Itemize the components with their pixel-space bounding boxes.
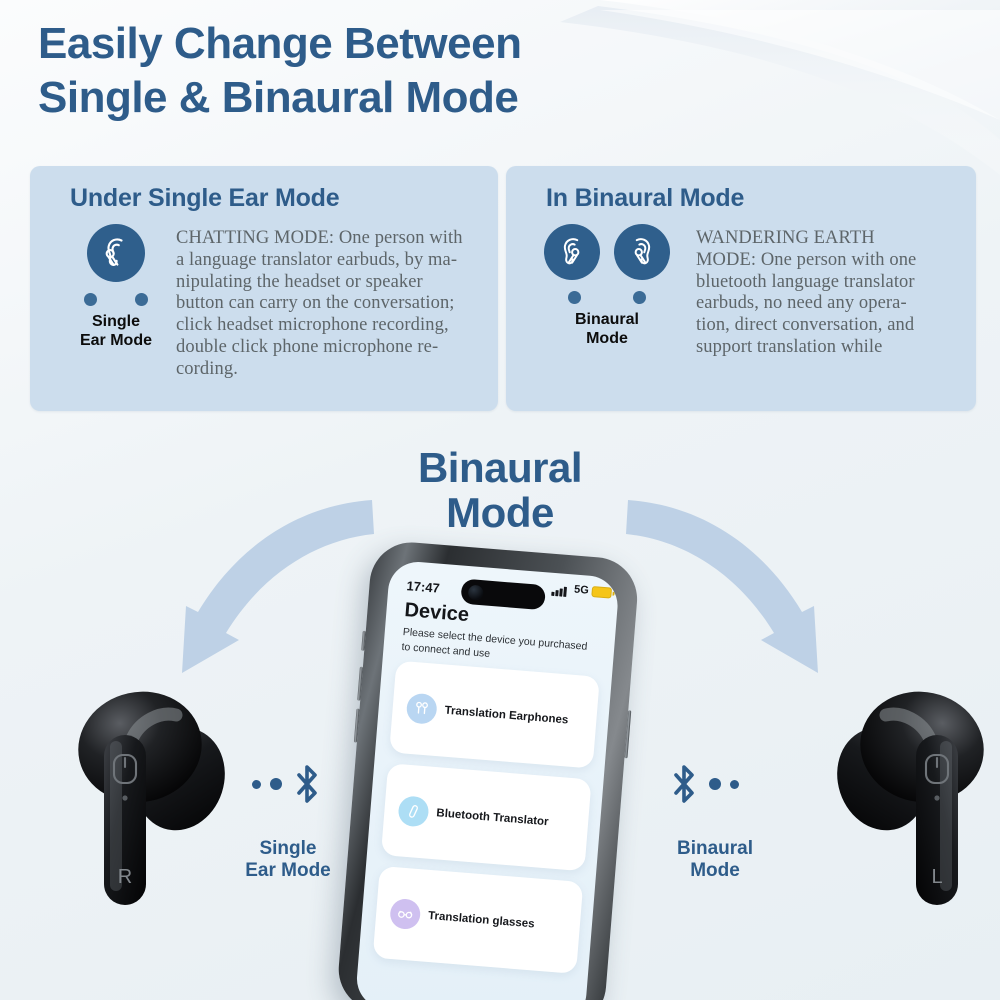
page-title-line-1: Easily Change Between <box>38 17 678 71</box>
earbud-right-image: L <box>770 655 1000 925</box>
power-button[interactable] <box>624 710 631 758</box>
body-line: cording. <box>176 359 494 381</box>
earbud-label-binaural-mode: Binaural Mode <box>625 838 805 882</box>
card-mode-label: Binaural Mode <box>575 311 639 349</box>
link-dot <box>730 780 739 789</box>
status-dot <box>633 291 646 304</box>
battery-icon <box>591 586 612 599</box>
card-mode-label: Single Ear Mode <box>80 313 152 351</box>
body-line: a language translator earbuds, by ma- <box>176 250 494 272</box>
ear-with-earbud-icon-right <box>614 224 670 280</box>
earbud-channel-mark-l: L <box>931 866 942 888</box>
card-body-text: WANDERING EARTH MODE: One person with on… <box>696 228 968 359</box>
volume-down-button[interactable] <box>354 708 360 742</box>
bluetooth-icon <box>668 762 700 806</box>
card-heading: Under Single Ear Mode <box>30 184 498 213</box>
body-line: support translation while <box>696 337 968 359</box>
earbud-channel-mark-r: R <box>118 866 132 888</box>
dynamic-island <box>460 579 546 611</box>
mode-label-line-2: Mode <box>575 330 639 349</box>
mute-switch[interactable] <box>361 631 366 651</box>
list-item-translation-glasses[interactable]: Translation glasses <box>373 866 584 974</box>
card-icon-column: Single Ear Mode <box>52 224 180 351</box>
ear-with-earbud-icon-left <box>544 224 600 280</box>
body-line: double click phone microphone re- <box>176 337 494 359</box>
body-line: click headset microphone recording, <box>176 315 494 337</box>
card-body-text: CHATTING MODE: One person with a languag… <box>176 228 494 381</box>
body-line: bluetooth language translator <box>696 272 968 294</box>
status-dots <box>84 293 148 306</box>
card-single-ear-mode: Under Single Ear Mode Single <box>30 166 498 411</box>
mode-label-line-1: Single <box>80 313 152 332</box>
volume-up-button[interactable] <box>357 667 363 701</box>
status-dot <box>84 293 97 306</box>
list-item-bluetooth-translator[interactable]: Bluetooth Translator <box>381 763 592 871</box>
ear-with-earbud-icon <box>87 224 145 282</box>
body-line: WANDERING EARTH <box>696 228 968 250</box>
stick-translator-icon <box>397 795 429 827</box>
bluetooth-icon <box>291 762 323 806</box>
phone-mockup: 5G 17:47 Device Please select the device… <box>328 529 655 1000</box>
bluetooth-link-right <box>668 762 739 806</box>
earbud-label-line-1: Binaural <box>625 838 805 860</box>
list-item-label: Bluetooth Translator <box>436 807 549 828</box>
screen-title: Device <box>404 599 470 627</box>
status-bar-time: 17:47 <box>406 578 440 596</box>
body-line: button can carry on the conversation; <box>176 293 494 315</box>
body-line: CHATTING MODE: One person with <box>176 228 494 250</box>
body-line: tion, direct conversation, and <box>696 315 968 337</box>
link-dot <box>270 778 282 790</box>
earbuds-icon <box>406 693 438 725</box>
card-binaural-mode: In Binaural Mode <box>506 166 976 411</box>
infographic-root: Easily Change Between Single & Binaural … <box>0 0 1000 1000</box>
list-item-label: Translation Earphones <box>444 705 569 727</box>
bluetooth-link-left <box>252 762 323 806</box>
card-heading: In Binaural Mode <box>506 184 976 213</box>
phone-body: 5G 17:47 Device Please select the device… <box>335 539 640 1000</box>
link-dot <box>709 778 721 790</box>
ear-icon-row <box>87 224 145 282</box>
device-list: Translation Earphones Bluetooth Translat… <box>372 661 600 985</box>
body-line: earbuds, no need any opera- <box>696 293 968 315</box>
list-item-translation-earphones[interactable]: Translation Earphones <box>389 661 600 769</box>
earbud-label-line-1: Single <box>198 838 378 860</box>
mode-label-line-1: Binaural <box>575 311 639 330</box>
body-line: MODE: One person with one <box>696 250 968 272</box>
earbud-label-line-2: Ear Mode <box>198 860 378 882</box>
mode-label-line-2: Ear Mode <box>80 332 152 351</box>
status-dot <box>135 293 148 306</box>
body-line: nipulating the headset or speaker <box>176 272 494 294</box>
section-heading-binaural-mode: Binaural Mode <box>330 446 670 536</box>
phone-screen: 5G 17:47 Device Please select the device… <box>355 560 620 1000</box>
status-dot <box>568 291 581 304</box>
list-item-label: Translation glasses <box>428 910 535 931</box>
earbud-label-line-2: Mode <box>625 860 805 882</box>
card-icon-column: Binaural Mode <box>522 224 692 349</box>
earbud-label-single-ear-mode: Single Ear Mode <box>198 838 378 882</box>
page-title: Easily Change Between Single & Binaural … <box>38 17 678 124</box>
status-dots <box>568 291 646 304</box>
signal-bars-icon <box>551 585 567 597</box>
glasses-icon <box>389 898 421 930</box>
network-label: 5G <box>574 584 590 597</box>
front-camera-icon <box>468 584 484 600</box>
section-heading-line-1: Binaural <box>330 446 670 491</box>
link-dot <box>252 780 261 789</box>
page-title-line-2: Single & Binaural Mode <box>38 71 678 125</box>
ear-icon-row <box>544 224 670 280</box>
